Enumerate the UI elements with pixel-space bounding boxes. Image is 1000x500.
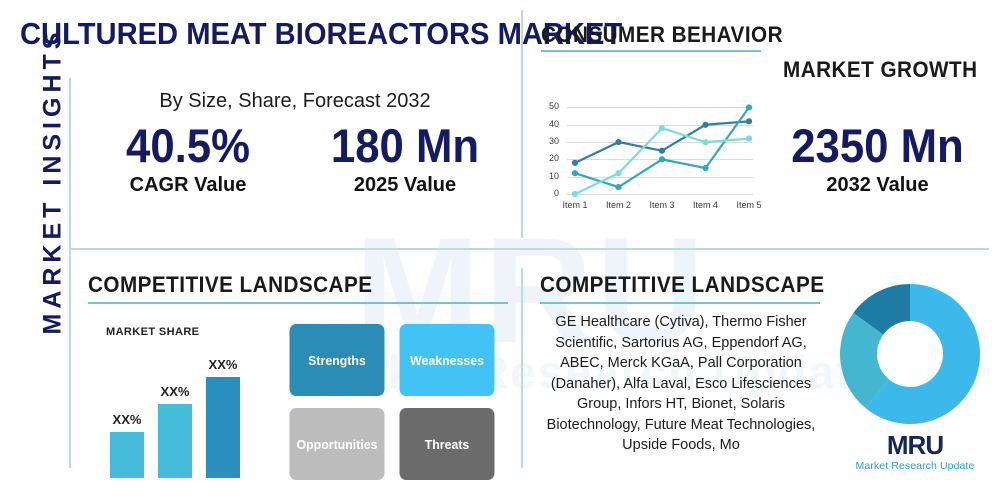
line-chart-data-point — [615, 139, 621, 145]
kpi-2025-value: 180 Mn — [307, 122, 502, 169]
kpi-cagr: 40.5% CAGR Value — [88, 122, 288, 197]
market-insights-rail-label: MARKET INSIGHTS — [39, 105, 68, 335]
kpi-2025-value-block: 180 Mn 2025 Value — [300, 122, 510, 197]
line-chart-plot — [541, 98, 757, 198]
kpi-2032-caption: 2032 Value — [760, 174, 995, 197]
competitive-landscape-company-list: GE Healthcare (Cytiva), Thermo Fisher Sc… — [536, 312, 826, 456]
swot-box-strengths[interactable]: Strengths — [290, 324, 385, 396]
mru-logo: MRU Market Research Update — [845, 432, 985, 472]
line-chart-data-point — [572, 191, 578, 197]
line-chart-data-point — [572, 160, 578, 166]
bar-chart-bar — [206, 377, 240, 478]
section-header-competitive-landscape-right: COMPETITIVE LANDSCAPE — [540, 272, 824, 298]
line-chart-data-point — [659, 125, 665, 131]
bar-chart-bar — [158, 404, 192, 478]
divider-horizontal-main — [69, 248, 989, 250]
page-subtitle: By Size, Share, Forecast 2032 — [85, 90, 505, 113]
bar-chart-data-label: XX% — [151, 384, 199, 399]
logo-mark-text: MRU — [845, 432, 985, 458]
line-chart-data-point — [615, 184, 621, 190]
line-chart-data-point — [572, 170, 578, 176]
line-chart-x-tick: Item 2 — [599, 200, 639, 210]
market-share-bar-chart: MARKET SHARE XX%XX%XX% — [100, 330, 280, 478]
line-chart-series — [575, 107, 749, 187]
line-chart-x-tick: Item 4 — [686, 200, 726, 210]
line-chart-x-tick: Item 3 — [642, 200, 682, 210]
line-chart-x-tick: Item 5 — [729, 200, 769, 210]
swot-box-weaknesses[interactable]: Weaknesses — [400, 324, 495, 396]
market-segments-donut-chart — [838, 282, 982, 426]
bar-chart-bar — [110, 432, 144, 478]
swot-box-threats[interactable]: Threats — [400, 408, 495, 480]
section-underline-consumer-behavior — [541, 50, 761, 52]
consumer-behavior-line-chart: 01020304050 Item 1Item 2Item 3Item 4Item… — [541, 98, 757, 213]
divider-vertical-center-bottom — [521, 268, 523, 468]
line-chart-data-point — [659, 148, 665, 154]
swot-box-opportunities[interactable]: Opportunities — [290, 408, 385, 480]
line-chart-data-point — [702, 122, 708, 128]
line-chart-data-point — [615, 170, 621, 176]
line-chart-x-tick: Item 1 — [555, 200, 595, 210]
divider-vertical-left — [69, 78, 71, 468]
kpi-cagr-value: 40.5% — [95, 122, 281, 169]
section-underline-competitive-landscape-left — [88, 302, 508, 304]
kpi-cagr-caption: CAGR Value — [88, 174, 288, 197]
line-chart-data-point — [659, 156, 665, 162]
section-header-market-growth: MARKET GROWTH — [783, 57, 978, 83]
bar-chart-data-label: XX% — [199, 357, 247, 372]
swot-matrix: Strengths Weaknesses Opportunities Threa… — [287, 324, 499, 480]
logo-tagline: Market Research Update — [845, 460, 985, 472]
market-share-title: MARKET SHARE — [106, 326, 199, 338]
line-chart-data-point — [746, 104, 752, 110]
kpi-2032-value: 2350 Mn — [768, 122, 987, 169]
bar-chart-data-label: XX% — [103, 412, 151, 427]
line-chart-data-point — [702, 165, 708, 171]
section-header-consumer-behavior: CONSUMER BEHAVIOR — [541, 22, 783, 48]
line-chart-data-point — [746, 136, 752, 142]
section-underline-competitive-landscape-right — [540, 302, 820, 304]
infographic-canvas: MRU Market Research Update MARKET INSIGH… — [0, 0, 1000, 500]
kpi-2032-value-block: 2350 Mn 2032 Value — [760, 122, 995, 197]
line-chart-data-point — [746, 118, 752, 124]
line-chart-data-point — [702, 139, 708, 145]
kpi-2025-caption: 2025 Value — [300, 174, 510, 197]
page-title: CULTURED MEAT BIOREACTORS MARKET — [20, 16, 490, 52]
section-header-competitive-landscape-left: COMPETITIVE LANDSCAPE — [88, 272, 372, 298]
